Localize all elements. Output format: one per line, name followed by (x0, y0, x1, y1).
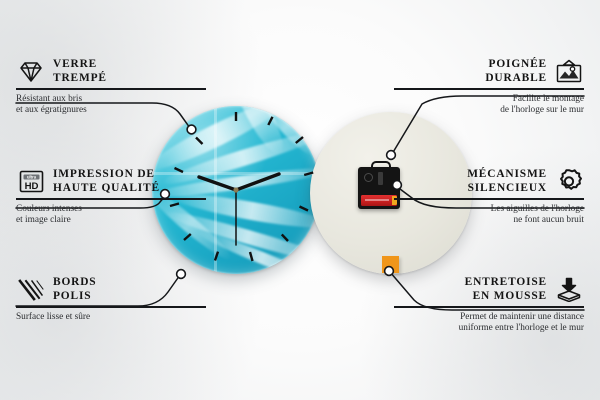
gear-icon (554, 168, 584, 195)
ultra-hd-badge-icon: ultra HD (16, 168, 46, 195)
mechanism-shaft (378, 172, 383, 185)
mechanism-hanger-tab (371, 161, 391, 171)
feature-desc-poignee: Facilite le montage de l'horloge sur le … (394, 94, 584, 116)
svg-text:HD: HD (24, 181, 38, 192)
battery-stripe (365, 199, 389, 201)
polished-edge-lines-icon (16, 276, 46, 303)
infographic-canvas: VERRE TREMPÉ Résistant aux bris et aux é… (0, 0, 600, 400)
feature-desc-mecanisme: Les aiguilles de l'horloge ne font aucun… (394, 204, 584, 226)
title-rule (16, 88, 206, 90)
diamond-icon (16, 58, 46, 85)
feature-verre-trempe: VERRE TREMPÉ Résistant aux bris et aux é… (16, 58, 206, 116)
feature-title-impression: IMPRESSION DE HAUTE QUALITÉ (53, 168, 160, 195)
feature-title-verre-trempe: VERRE TREMPÉ (53, 58, 107, 85)
foam-spacer (382, 256, 399, 273)
feature-bords-polis: BORDS POLIS Surface lisse et sûre (16, 276, 206, 323)
feature-title-entretoise: ENTRETOISE EN MOUSSE (465, 276, 547, 303)
feature-entretoise-en-mousse: ENTRETOISE EN MOUSSE Permet de maintenir… (394, 276, 584, 334)
feature-impression-haute-qualite: ultra HD IMPRESSION DE HAUTE QUALITÉ Cou… (16, 168, 206, 226)
title-rule (394, 198, 584, 200)
picture-hanger-icon (554, 58, 584, 85)
title-rule (16, 306, 206, 308)
feature-desc-verre-trempe: Résistant aux bris et aux égratignures (16, 94, 206, 116)
foam-spacer-arrow-icon (554, 276, 584, 303)
feature-poignee-durable: POIGNÉE DURABLE Facilite le montage de l… (394, 58, 584, 116)
svg-text:ultra: ultra (26, 175, 36, 180)
feature-title-bords-polis: BORDS POLIS (53, 276, 97, 303)
feature-mecanisme-silencieux: MÉCANISME SILENCIEUX Les aiguilles de l'… (394, 168, 584, 226)
mechanism-knob (364, 173, 373, 182)
title-rule (394, 88, 584, 90)
feature-desc-bords-polis: Surface lisse et sûre (16, 312, 206, 323)
battery (361, 195, 397, 206)
feature-title-mecanisme: MÉCANISME SILENCIEUX (467, 168, 547, 195)
feature-desc-entretoise: Permet de maintenir une distance uniform… (394, 312, 584, 334)
title-rule (16, 198, 206, 200)
feature-desc-impression: Couleurs intenses et image claire (16, 204, 206, 226)
feature-title-poignee: POIGNÉE DURABLE (485, 58, 547, 85)
title-rule (394, 306, 584, 308)
